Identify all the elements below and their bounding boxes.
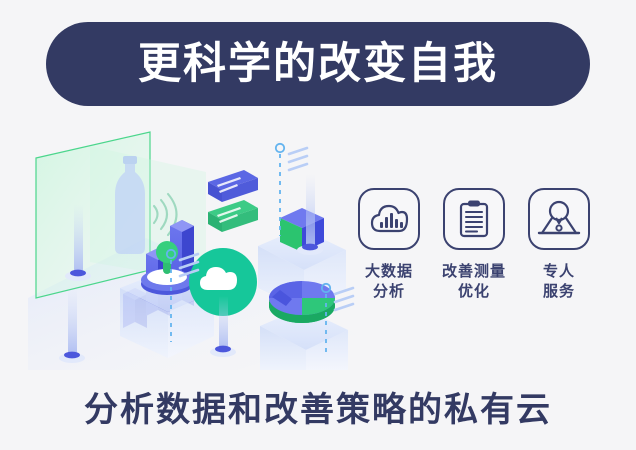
feature-label-big-data: 大数据 分析 <box>365 262 413 303</box>
cloud-bar-chart-icon <box>369 202 409 236</box>
header-pill: 更科学的改变自我 <box>46 22 590 106</box>
feature-card-dedicated-service[interactable]: 专人 服务 <box>522 188 596 303</box>
feature-card-big-data[interactable]: 大数据 分析 <box>352 188 426 303</box>
feature-label-dedicated-service: 专人 服务 <box>543 262 575 303</box>
promo-banner: 更科学的改变自我 <box>0 0 636 450</box>
feature-card-measurement[interactable]: 改善测量 优化 <box>437 188 511 303</box>
cloud-bar-chart-icon-box <box>358 188 420 250</box>
clipboard-icon <box>457 199 491 239</box>
feature-label-measurement: 改善测量 优化 <box>442 262 506 303</box>
feature-label-line2: 分析 <box>373 283 405 300</box>
feature-label-line1: 改善测量 <box>442 263 506 280</box>
blue-tag-label <box>208 170 258 202</box>
feature-label-line2: 服务 <box>543 283 575 300</box>
feature-label-line2: 优化 <box>458 283 490 300</box>
feature-label-line1: 专人 <box>543 263 575 280</box>
tagline: 分析数据和改善策略的私有云 <box>0 382 636 431</box>
feature-list: 大数据 分析 改善测量 优化 <box>352 188 596 336</box>
page-title: 更科学的改变自我 <box>138 43 498 86</box>
isometric-data-platform-illustration <box>28 120 358 370</box>
feature-label-line1: 大数据 <box>365 263 413 280</box>
person-service-icon <box>537 200 581 238</box>
clipboard-icon-box <box>443 188 505 250</box>
person-service-icon-box <box>528 188 590 250</box>
pie-chart-3d <box>269 281 335 323</box>
green-tag-label <box>208 200 258 232</box>
